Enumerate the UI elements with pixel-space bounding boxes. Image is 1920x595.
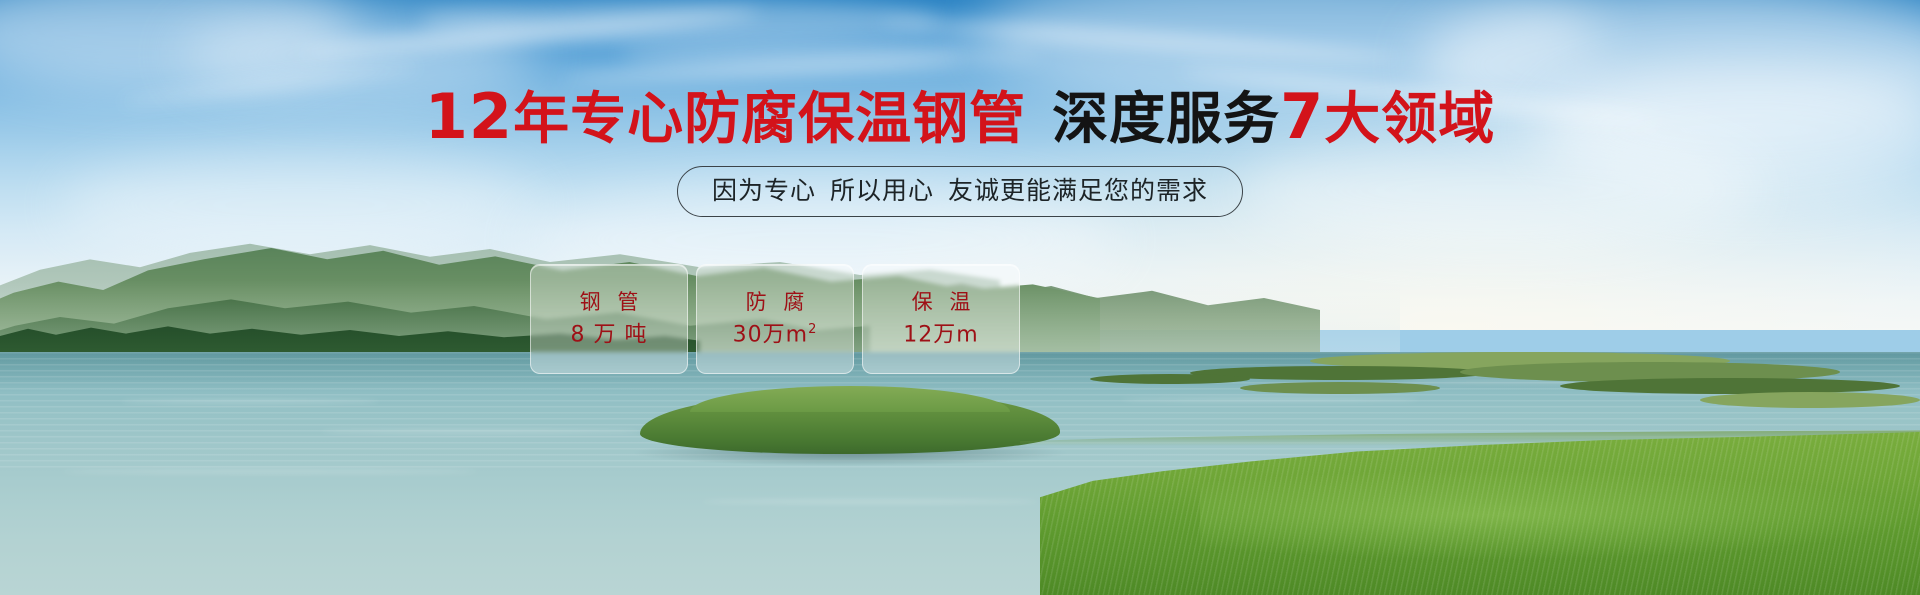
headline-years-number: 12 xyxy=(425,80,513,153)
hero-banner: 12年专心防腐保温钢管深度服务7大领域 因为专心所以用心友诚更能满足您的需求 钢… xyxy=(0,0,1920,595)
tagline-segment-3: 友诚更能满足您的需求 xyxy=(948,176,1208,205)
headline-part-two: 深度服务 xyxy=(1052,87,1280,152)
tagline-pill: 因为专心所以用心友诚更能满足您的需求 xyxy=(677,166,1243,217)
stat-value-text: 30万m xyxy=(733,322,808,347)
stat-value-text: 8 万 吨 xyxy=(571,322,648,347)
water-ripple xyxy=(320,430,640,433)
water-ripple xyxy=(700,500,1040,503)
marsh-patch xyxy=(1240,382,1440,394)
water-ripple xyxy=(120,400,380,403)
stat-value-sup: 2 xyxy=(808,322,817,337)
grass-highlight xyxy=(1200,470,1920,560)
headline-fields-number: 7 xyxy=(1280,80,1324,153)
stat-card-steel-pipe: 钢 管 8 万 吨 xyxy=(530,264,688,374)
tagline-segment-2: 所以用心 xyxy=(830,176,934,205)
water-ripple xyxy=(1120,398,1420,401)
tagline-container: 因为专心所以用心友诚更能满足您的需求 xyxy=(0,166,1920,217)
stat-card-insulation: 保 温 12万m xyxy=(862,264,1020,374)
stat-card-group: 钢 管 8 万 吨 防 腐 30万m2 保 温 12万m xyxy=(530,264,1020,374)
marsh-patch xyxy=(1090,374,1250,384)
headline-fields-word: 大领域 xyxy=(1324,87,1495,152)
stat-value-text: 12万m xyxy=(903,322,978,347)
headline: 12年专心防腐保温钢管深度服务7大领域 xyxy=(0,86,1920,148)
headline-years-unit: 年专心防腐保温钢管 xyxy=(513,87,1026,152)
stat-label: 防 腐 xyxy=(741,292,810,313)
stat-value: 8 万 吨 xyxy=(571,323,648,346)
stat-label: 钢 管 xyxy=(575,292,644,313)
water-ripple xyxy=(60,470,480,473)
tagline-segment-1: 因为专心 xyxy=(712,176,816,205)
stat-value: 30万m2 xyxy=(733,323,818,346)
stat-card-anticorrosion: 防 腐 30万m2 xyxy=(696,264,854,374)
stat-value: 12万m xyxy=(903,323,978,346)
marsh-patch xyxy=(1700,392,1920,408)
stat-label: 保 温 xyxy=(907,292,976,313)
